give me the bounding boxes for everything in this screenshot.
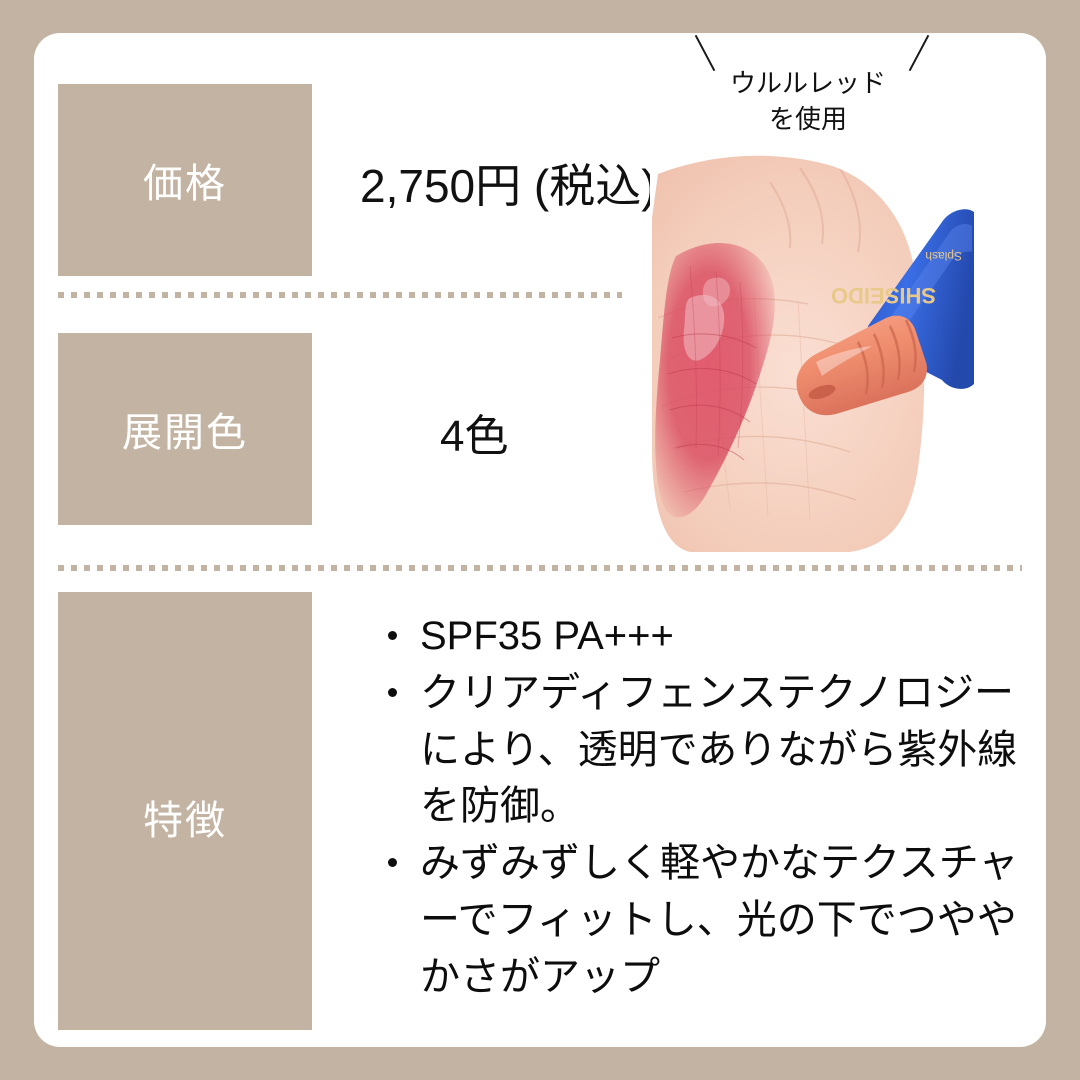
row-value-colors: 4色 — [440, 400, 508, 464]
row-label-feature-text: 特徴 — [58, 788, 312, 846]
product-photo: SHISEIDO Splash — [650, 148, 974, 554]
row-label-feature: 特徴 — [58, 592, 312, 1030]
row-label-colors-text: 展開色 — [122, 400, 248, 458]
annotation-line-1: ウルルレッド — [688, 66, 928, 102]
row-label-price: 価格 — [58, 84, 312, 276]
tube-product-text: Splash — [925, 249, 962, 263]
row-value-price: 2,750円 (税込) — [360, 150, 657, 216]
product-photo-image: SHISEIDO Splash — [650, 148, 974, 554]
row-label-colors: 展開色 — [58, 333, 312, 525]
row-label-price-text: 価格 — [143, 151, 227, 209]
feature-bullet-list: SPF35 PA+++ クリアディフェンステクノロジーにより、透明でありながら紫… — [380, 608, 1020, 1006]
list-item: クリアディフェンステクノロジーにより、透明でありながら紫外線を防御。 — [380, 665, 1020, 835]
divider-1 — [58, 292, 622, 298]
list-item: みずみずしく軽やかなテクスチャーでフィットし、光の下でつややかさがアップ — [380, 835, 1020, 1005]
divider-2 — [58, 565, 1022, 571]
tube-brand-text: SHISEIDO — [831, 283, 936, 308]
list-item: SPF35 PA+++ — [380, 608, 1020, 665]
annotation-shade-used: ウルルレッド を使用 — [688, 66, 928, 138]
page-root: 価格 2,750円 (税込) 展開色 4色 特徴 SPF35 PA+++ クリア… — [0, 0, 1080, 1080]
annotation-line-2: を使用 — [769, 102, 847, 138]
